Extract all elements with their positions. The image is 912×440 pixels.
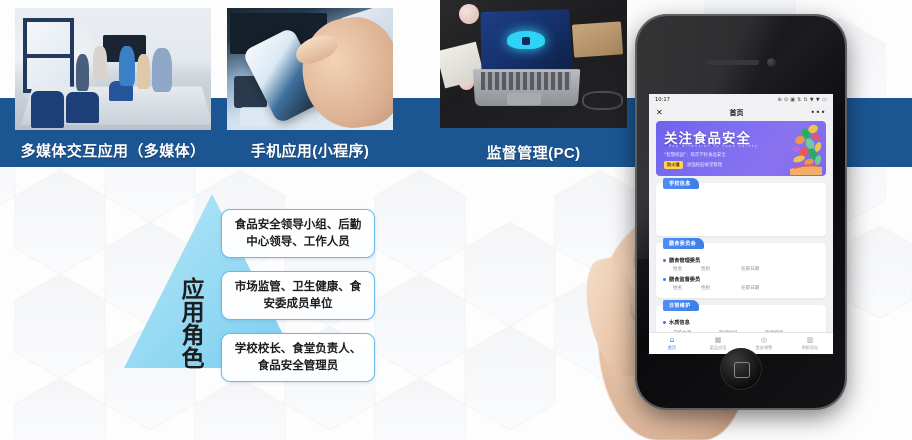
front-camera-icon <box>767 58 776 67</box>
pyramid-label: 应 用 角 色 <box>178 278 208 370</box>
promo-banner[interactable]: 关注食品安全 Pay attention to food safety “智慧校… <box>656 121 826 176</box>
alert-icon: ◎ <box>761 337 767 344</box>
list-item[interactable]: 水质信息 <box>663 319 819 326</box>
laptop-cloud-security-photo <box>440 0 627 128</box>
list-item[interactable]: 膳食管理委员 <box>663 257 819 264</box>
row-label: 膳食监督委员 <box>669 276 700 283</box>
status-bar: 10:17 ⊕ ⊙ ▣ ⇅ ⇅ ▼ ▼ ▭ <box>649 94 833 105</box>
banner-subtitle: Pay attention to food safety <box>669 144 758 148</box>
column-header: 姓名 <box>673 266 701 272</box>
content-scroll[interactable]: 关注食品安全 Pay attention to food safety “智慧校… <box>649 120 833 333</box>
tab-kitchen[interactable]: ▥ 明厨亮灶 <box>787 333 833 354</box>
table-row: 姓名 性别 任职日期 <box>663 266 819 272</box>
phone-screen: 10:17 ⊕ ⊙ ▣ ⇅ ⇅ ▼ ▼ ▭ ✕ 首页 ••• 关注食品安全 Pa… <box>649 94 833 354</box>
vegetables-illustration <box>766 123 824 175</box>
section-tab-daily-maintenance: 日常维护 <box>663 300 699 311</box>
row-label: 膳食管理委员 <box>669 257 700 264</box>
kitchen-icon: ▥ <box>807 337 814 344</box>
banner-line-1: “智慧校园”：筑牢学校食品安全 <box>664 152 726 158</box>
tab-label: 菜品应用 <box>710 345 727 351</box>
pyramid-label-char-2: 角 <box>178 324 208 347</box>
pyramid-label-char-1: 用 <box>178 301 208 324</box>
section-daily-maintenance[interactable]: 日常维护 水质信息 学校水源 检测时间 检测结果 消毒设施 <box>656 305 826 333</box>
role-box-top[interactable]: 食品安全领导小组、后勤中心领导、工作人员 <box>221 209 375 258</box>
card-image-multimedia[interactable] <box>15 8 211 130</box>
home-button[interactable] <box>720 348 762 390</box>
home-icon: ⌂ <box>670 337 674 344</box>
role-box-bottom[interactable]: 学校校长、食堂负责人、食品安全管理员 <box>221 333 375 382</box>
column-header: 姓名 <box>673 285 701 291</box>
meeting-room-photo <box>15 8 211 130</box>
bullet-icon <box>663 278 666 281</box>
pyramid-label-char-0: 应 <box>178 278 208 301</box>
tab-label: 首页 <box>668 345 676 351</box>
more-icon[interactable]: ••• <box>810 109 826 117</box>
card-caption-miniprogram: 手机应用(小程序) <box>227 140 393 161</box>
card-image-miniprogram[interactable] <box>227 8 393 130</box>
smartphone-device: 10:17 ⊕ ⊙ ▣ ⇅ ⇅ ▼ ▼ ▭ ✕ 首页 ••• 关注食品安全 Pa… <box>637 16 845 408</box>
pyramid-label-char-3: 色 <box>178 347 208 370</box>
banner-line-2: 加强校园食堂管理 <box>687 162 722 168</box>
slide-canvas: 多媒体交互应用（多媒体） 手机应用(小程序) 监督管理(PC) <box>0 0 912 440</box>
list-item[interactable]: 膳食监督委员 <box>663 276 819 283</box>
card-caption-multimedia: 多媒体交互应用（多媒体） <box>15 140 211 161</box>
column-header: 任职日期 <box>741 285 787 291</box>
tab-home[interactable]: ⌂ 首页 <box>649 333 695 354</box>
section-tab-meal-committee: 膳食委员会 <box>663 238 704 249</box>
tab-label: 明厨亮灶 <box>802 345 819 351</box>
column-header: 性别 <box>701 266 741 272</box>
column-header: 任职日期 <box>741 266 787 272</box>
bullet-icon <box>663 259 666 262</box>
banner-chip: 防火墙 <box>664 161 683 169</box>
section-school-info[interactable]: 学校信息 <box>656 183 826 236</box>
hand-using-smartphone-photo <box>227 8 393 130</box>
bullet-icon <box>663 321 666 324</box>
card-image-pc[interactable] <box>440 0 627 128</box>
table-row: 姓名 性别 任职日期 <box>663 285 819 291</box>
grid-icon: ▦ <box>715 337 722 344</box>
nav-bar: ✕ 首页 ••• <box>649 105 833 120</box>
row-label: 水质信息 <box>669 319 690 326</box>
earpiece-speaker <box>707 60 759 65</box>
page-title: 首页 <box>730 108 744 118</box>
close-icon[interactable]: ✕ <box>656 109 663 117</box>
section-meal-committee[interactable]: 膳食委员会 膳食管理委员 姓名 性别 任职日期 膳食监督委员 <box>656 243 826 298</box>
column-header: 性别 <box>701 285 741 291</box>
status-icons: ⊕ ⊙ ▣ ⇅ ⇅ ▼ ▼ ▭ <box>777 97 827 103</box>
section-tab-school-info: 学校信息 <box>663 178 699 189</box>
status-time: 10:17 <box>655 97 670 103</box>
role-box-middle[interactable]: 市场监管、卫生健康、食安委成员单位 <box>221 271 375 320</box>
tab-label: 食安预警 <box>756 345 773 351</box>
